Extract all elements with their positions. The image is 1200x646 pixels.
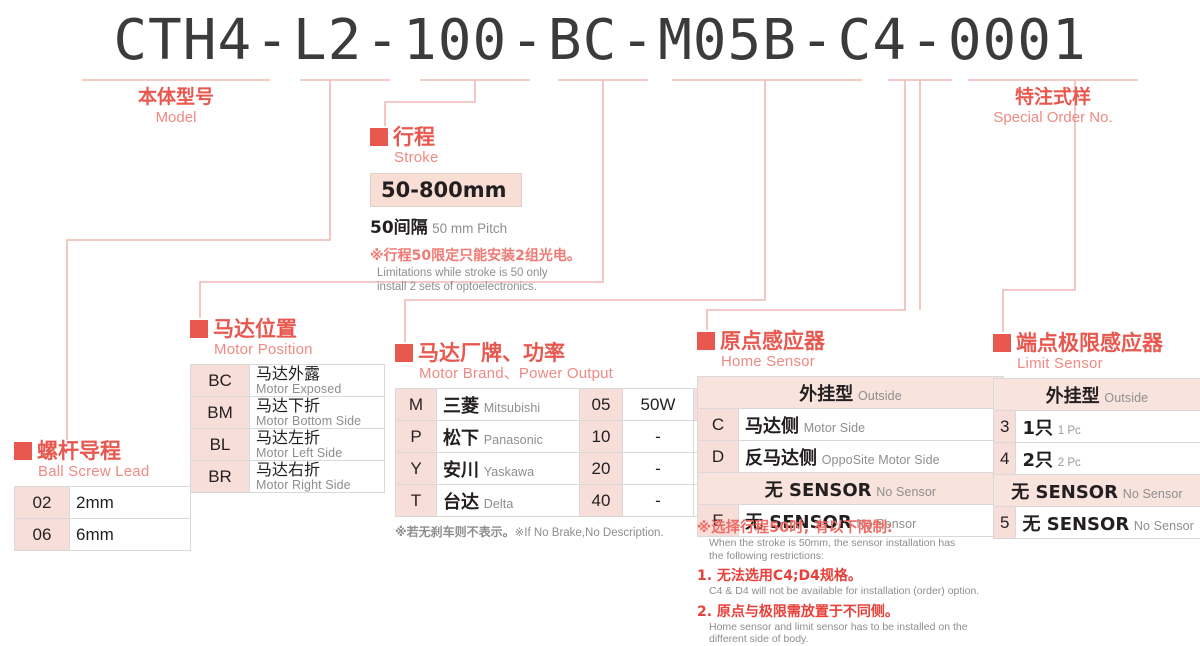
cell-value: 马达外露 Motor Exposed	[250, 365, 385, 397]
code-segment-stroke: 100	[403, 8, 507, 73]
cell-value-cn: 马达侧	[745, 416, 799, 437]
cell-power: -	[623, 421, 694, 453]
cell-value: 马达下折 Motor Bottom Side	[250, 397, 385, 429]
cell-value: 1只 1 Pc	[1016, 411, 1200, 443]
cell-brand-code: Y	[396, 453, 437, 485]
cell-code: BL	[191, 429, 250, 461]
bullet-square-icon	[993, 334, 1011, 352]
band-outside-en: Outside	[858, 389, 902, 403]
cell-value: 反马达侧 OppoSite Motor Side	[739, 441, 1004, 473]
band-outside-cn: 外挂型	[799, 384, 853, 405]
stroke-pitch: 50间隔 50 mm Pitch	[370, 213, 581, 238]
cell-value-en: Motor Right Side	[256, 478, 378, 492]
cell-value: 无 SENSOR No Sensor	[1016, 507, 1200, 539]
band-no-sensor: 无 SENSOR No Sensor	[994, 475, 1200, 507]
stroke-title-en: Stroke	[370, 148, 581, 167]
cell-brand-en: Delta	[484, 497, 514, 511]
code-dash: -	[617, 8, 658, 73]
band-no-sensor-en: No Sensor	[876, 485, 936, 499]
cell-brand-cn: 安川	[443, 460, 479, 481]
bullet-square-icon	[395, 344, 413, 362]
limit-sensor-title-en: Limit Sensor	[993, 354, 1200, 373]
cell-value: 马达左折 Motor Left Side	[250, 429, 385, 461]
table-row-band: 外挂型 Outside	[994, 379, 1200, 411]
stroke-title-cn: 行程	[370, 126, 581, 148]
cell-value: 2mm	[70, 487, 191, 519]
table-row: Y 安川 Yaskawa 20 -	[396, 453, 739, 485]
restriction-subtitle-line2: the following restrictions:	[697, 550, 979, 563]
cell-value-en: Motor Left Side	[256, 446, 378, 460]
code-segment-motor-brand: M05B	[658, 8, 797, 73]
cell-brand-cn: 松下	[443, 428, 479, 449]
ball-screw-lead-title-cn-text: 螺杆导程	[37, 439, 121, 463]
section-limit-sensor: 端点极限感应器 Limit Sensor 外挂型 Outside 3 1只 1 …	[993, 332, 1200, 539]
cell-code: 5	[994, 507, 1016, 539]
motor-brand-footnote: ※若无刹车则不表示。※If No Brake,No Description.	[395, 523, 739, 540]
ball-screw-lead-title-cn: 螺杆导程	[14, 440, 191, 462]
cell-value: 马达侧 Motor Side	[739, 409, 1004, 441]
motor-brand-table: M 三菱 Mitsubishi 05 50W B P 松下 Panasonic …	[395, 388, 739, 517]
cell-code: C	[698, 409, 739, 441]
special-order-title-cn: 特注式样	[968, 86, 1138, 108]
bullet-square-icon	[14, 442, 32, 460]
stroke-title-cn-text: 行程	[393, 125, 435, 149]
band-outside-cn: 外挂型	[1046, 386, 1100, 407]
cell-value-cn: 反马达侧	[745, 448, 817, 469]
restriction-subtitle-line1: When the stroke is 50mm, the sensor inst…	[697, 537, 979, 550]
restriction-2-cn: 2. 原点与极限需放置于不同侧。	[697, 601, 979, 621]
home-sensor-title-en: Home Sensor	[697, 352, 1004, 371]
section-ball-screw-lead: 螺杆导程 Ball Screw Lead 02 2mm 06 6mm	[14, 440, 191, 551]
restriction-2-en-line2: different side of body.	[697, 633, 979, 646]
cell-code: BC	[191, 365, 250, 397]
cell-brand-code: M	[396, 389, 437, 421]
table-row-band: 无 SENSOR No Sensor	[994, 475, 1200, 507]
cell-brand-code: T	[396, 485, 437, 517]
cell-brand: 三菱 Mitsubishi	[437, 389, 580, 421]
cell-brand-en: Yaskawa	[484, 465, 535, 479]
cell-value: 2只 2 Pc	[1016, 443, 1200, 475]
restriction-2-en-line1: Home sensor and limit sensor has to be i…	[697, 621, 979, 634]
cell-power-code: 20	[580, 453, 623, 485]
code-segment-motor-position: BC	[548, 8, 617, 73]
band-no-sensor: 无 SENSOR No Sensor	[698, 473, 1004, 505]
cell-value-cn: 马达下折	[256, 397, 378, 414]
bullet-square-icon	[697, 332, 715, 350]
section-special-order: 特注式样 Special Order No.	[968, 86, 1138, 127]
model-title-cn: 本体型号	[82, 86, 270, 108]
cell-value-cn: 马达右折	[256, 461, 378, 478]
cell-brand-code: P	[396, 421, 437, 453]
table-row-band: 无 SENSOR No Sensor	[698, 473, 1004, 505]
section-stroke: 行程 Stroke 50-800mm 50间隔 50 mm Pitch ※行程5…	[370, 126, 581, 294]
section-model: 本体型号 Model	[82, 86, 270, 127]
table-row: M 三菱 Mitsubishi 05 50W B	[396, 389, 739, 421]
cell-power: -	[623, 485, 694, 517]
band-no-sensor-en: No Sensor	[1123, 487, 1183, 501]
table-row: D 反马达侧 OppoSite Motor Side	[698, 441, 1004, 473]
stroke-pitch-en: 50 mm Pitch	[432, 221, 507, 236]
cell-value-en: 2 Pc	[1058, 457, 1081, 469]
motor-brand-footnote-en: ※If No Brake,No Description.	[515, 527, 664, 539]
table-row: BL 马达左折 Motor Left Side	[191, 429, 385, 461]
table-row: 06 6mm	[15, 519, 191, 551]
cell-value-cn: 2只	[1022, 450, 1053, 471]
limit-sensor-title-cn-text: 端点极限感应器	[1016, 331, 1163, 355]
table-row: 5 无 SENSOR No Sensor	[994, 507, 1200, 539]
cell-brand-en: Mitsubishi	[484, 401, 541, 415]
code-segment-home-sensor: C4	[838, 8, 907, 73]
cell-value-en: No Sensor	[1134, 519, 1194, 533]
table-row: C 马达侧 Motor Side	[698, 409, 1004, 441]
cell-code: 06	[15, 519, 70, 551]
motor-brand-title-cn-text: 马达厂牌、功率	[418, 341, 565, 365]
code-segment-special-order: 0001	[948, 8, 1087, 73]
cell-value-en: Motor Exposed	[256, 382, 378, 396]
code-dash: -	[797, 8, 838, 73]
stroke-pitch-cn: 50间隔	[370, 218, 428, 238]
ball-screw-lead-title-en: Ball Screw Lead	[14, 462, 191, 481]
band-no-sensor-cn: 无 SENSOR	[1011, 482, 1118, 503]
motor-position-title-cn: 马达位置	[190, 318, 385, 340]
section-home-sensor: 原点感应器 Home Sensor 外挂型 Outside C 马达侧 Moto…	[697, 330, 1004, 537]
cell-power-code: 05	[580, 389, 623, 421]
table-row: 4 2只 2 Pc	[994, 443, 1200, 475]
cell-power: 50W	[623, 389, 694, 421]
band-no-sensor-cn: 无 SENSOR	[765, 480, 872, 501]
table-row: BM 马达下折 Motor Bottom Side	[191, 397, 385, 429]
restriction-1-cn: 1. 无法选用C4;D4规格。	[697, 565, 979, 585]
table-row: T 台达 Delta 40 -	[396, 485, 739, 517]
code-dash: -	[252, 8, 293, 73]
cell-value-cn: 马达外露	[256, 365, 378, 382]
code-dash: -	[907, 8, 948, 73]
code-dash: -	[507, 8, 548, 73]
cell-brand-cn: 台达	[443, 492, 479, 513]
motor-brand-title-en: Motor Brand、Power Output	[395, 364, 739, 383]
cell-code: BM	[191, 397, 250, 429]
cell-value-cn: 马达左折	[256, 429, 378, 446]
ball-screw-lead-table: 02 2mm 06 6mm	[14, 486, 191, 551]
stroke-note-cn: ※行程50限定只能安装2组光电。	[370, 245, 581, 265]
cell-code: BR	[191, 461, 250, 493]
stroke-range-value: 50-800mm	[370, 173, 522, 207]
table-row: 3 1只 1 Pc	[994, 411, 1200, 443]
cell-brand: 松下 Panasonic	[437, 421, 580, 453]
code-segment-lead: L2	[293, 8, 362, 73]
bullet-square-icon	[190, 320, 208, 338]
cell-power-code: 10	[580, 421, 623, 453]
restriction-title: ※选择行程50时, 有以下限制:	[697, 516, 979, 537]
cell-value-cn: 1只	[1022, 418, 1053, 439]
band-outside-en: Outside	[1104, 391, 1148, 405]
table-row: BC 马达外露 Motor Exposed	[191, 365, 385, 397]
home-sensor-restrictions: ※选择行程50时, 有以下限制: When the stroke is 50mm…	[697, 516, 979, 646]
cell-value: 6mm	[70, 519, 191, 551]
section-motor-brand: 马达厂牌、功率 Motor Brand、Power Output M 三菱 Mi…	[395, 342, 739, 540]
bullet-square-icon	[370, 128, 388, 146]
code-segment-model: CTH4	[113, 8, 252, 73]
code-dash: -	[362, 8, 403, 73]
cell-code: 3	[994, 411, 1016, 443]
cell-brand-cn: 三菱	[443, 396, 479, 417]
cell-brand: 台达 Delta	[437, 485, 580, 517]
diagram-canvas: CTH4-L2-100-BC-M05B-C4-0001 本体型号 Model 特…	[0, 0, 1200, 601]
cell-power-code: 40	[580, 485, 623, 517]
table-row-band: 外挂型 Outside	[698, 377, 1004, 409]
stroke-note-en-line1: Limitations while stroke is 50 only	[370, 267, 581, 281]
cell-value-en: Motor Bottom Side	[256, 414, 378, 428]
cell-value: 马达右折 Motor Right Side	[250, 461, 385, 493]
cell-code: 02	[15, 487, 70, 519]
cell-brand: 安川 Yaskawa	[437, 453, 580, 485]
cell-value-en: OppoSite Motor Side	[822, 453, 940, 467]
motor-brand-title-cn: 马达厂牌、功率	[395, 342, 739, 364]
cell-code: 4	[994, 443, 1016, 475]
table-row: P 松下 Panasonic 10 -	[396, 421, 739, 453]
motor-position-title-en: Motor Position	[190, 340, 385, 359]
cell-value-en: Motor Side	[804, 421, 865, 435]
cell-value-cn: 无 SENSOR	[1022, 514, 1129, 535]
table-row: 02 2mm	[15, 487, 191, 519]
stroke-note-en-line2: install 2 sets of optoelectronics.	[370, 281, 581, 295]
product-code: CTH4-L2-100-BC-M05B-C4-0001	[0, 8, 1200, 73]
limit-sensor-table: 外挂型 Outside 3 1只 1 Pc 4 2只 2 Pc	[993, 378, 1200, 539]
table-row: BR 马达右折 Motor Right Side	[191, 461, 385, 493]
band-outside: 外挂型 Outside	[994, 379, 1200, 411]
cell-power: -	[623, 453, 694, 485]
motor-position-table: BC 马达外露 Motor Exposed BM 马达下折 Motor Bott…	[190, 364, 385, 493]
motor-position-title-cn-text: 马达位置	[213, 317, 297, 341]
cell-brand-en: Panasonic	[484, 433, 543, 447]
cell-code: D	[698, 441, 739, 473]
motor-brand-footnote-cn: ※若无刹车则不表示。	[395, 525, 515, 539]
home-sensor-title-cn-text: 原点感应器	[720, 329, 825, 353]
limit-sensor-title-cn: 端点极限感应器	[993, 332, 1200, 354]
section-motor-position: 马达位置 Motor Position BC 马达外露 Motor Expose…	[190, 318, 385, 493]
home-sensor-table: 外挂型 Outside C 马达侧 Motor Side D 反马达侧 Oppo…	[697, 376, 1004, 537]
cell-value-en: 1 Pc	[1058, 425, 1081, 437]
special-order-title-en: Special Order No.	[968, 108, 1138, 127]
band-outside: 外挂型 Outside	[698, 377, 1004, 409]
model-title-en: Model	[82, 108, 270, 127]
home-sensor-title-cn: 原点感应器	[697, 330, 1004, 352]
restriction-1-en: C4 & D4 will not be available for instal…	[697, 585, 979, 598]
